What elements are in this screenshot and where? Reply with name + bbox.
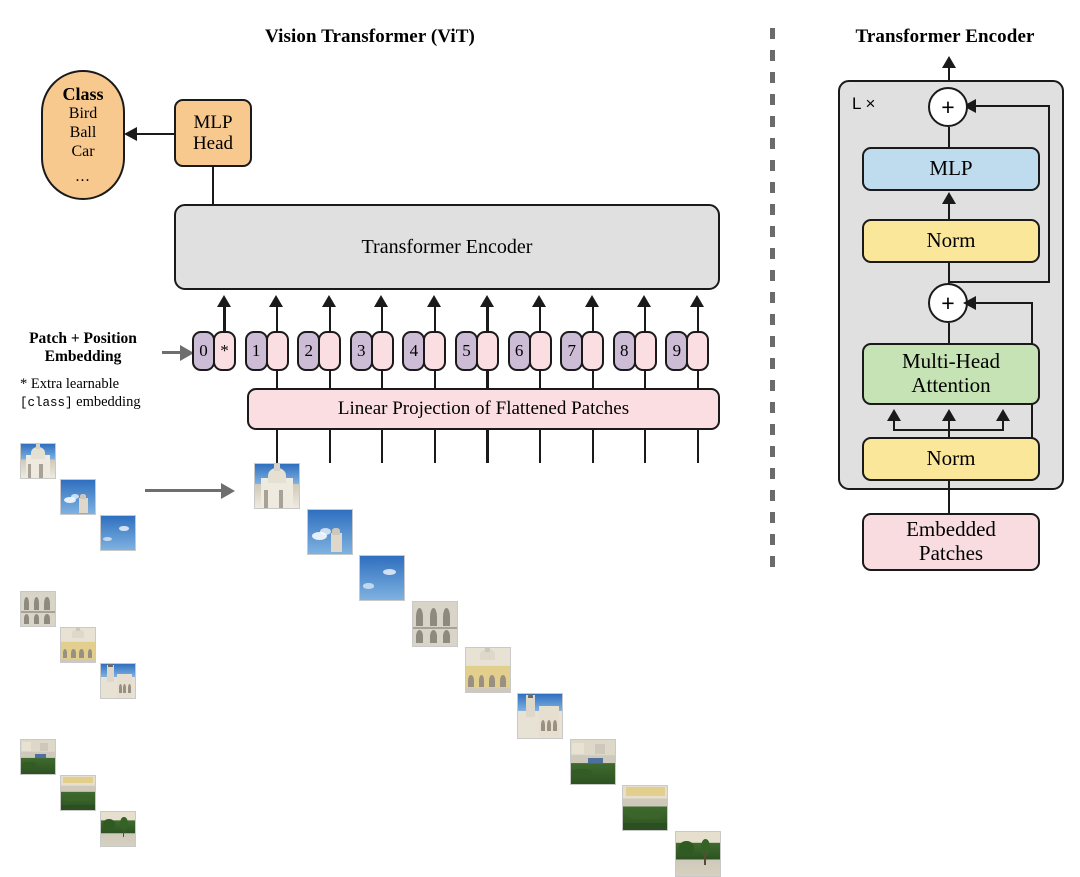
mlp-head-box: MLP Head [174, 99, 252, 167]
patch-3-to-projection-line [381, 430, 383, 463]
patch-9-to-projection-line [697, 430, 699, 463]
token-1-to-encoder-line [276, 307, 278, 333]
token-8-to-encoder-line [644, 307, 646, 333]
token-8: 8 [613, 331, 659, 371]
patch-grid-arrow-head [221, 483, 235, 499]
token-5-to-encoder-arrowhead [480, 295, 494, 307]
image-patch-r0-c2 [359, 555, 405, 601]
mlp-residual-bottom-line [948, 281, 1050, 283]
image-patch-r1-c0 [20, 591, 56, 627]
residual-add-bottom: + [928, 283, 968, 323]
token-2-from-projection-line [329, 371, 331, 388]
token-6-to-encoder-arrowhead [532, 295, 546, 307]
multi-head-attention-block: Multi-Head Attention [862, 343, 1040, 405]
position-embedding-7: 7 [560, 331, 583, 371]
token-0-to-encoder-line [223, 307, 225, 333]
image-patch-r0-c0 [20, 443, 56, 479]
attention-fanout-left-arrowhead [887, 409, 901, 421]
image-patch-r1-c2 [100, 663, 136, 699]
mlp-head-to-class-line [136, 133, 174, 135]
token-1-to-encoder-arrowhead [269, 295, 283, 307]
image-patch-r2-c2 [100, 811, 136, 847]
encoder-output-arrowhead [942, 56, 956, 68]
left-panel-title: Vision Transformer (ViT) [175, 26, 565, 48]
class-output-box: Class Bird Ball Car ... [41, 70, 125, 200]
footnote-line2: [class] embedding [20, 393, 195, 412]
position-embedding-4: 4 [402, 331, 425, 371]
patch-embedding-0: * [213, 331, 236, 371]
embedded-patches-block: Embedded Patches [862, 513, 1040, 571]
class-header: Class [62, 84, 103, 104]
attention-fanout-center-arrowhead [942, 409, 956, 421]
patch-embedding-1 [266, 331, 289, 371]
token-4-from-projection-line [434, 371, 436, 388]
position-embedding-8: 8 [613, 331, 636, 371]
patch-8-to-projection-line [644, 430, 646, 463]
attention-label-line1: Multi-Head [902, 350, 1000, 374]
embedding-label-line1: Patch + Position [8, 330, 158, 348]
attention-to-add-line [948, 323, 950, 343]
norm-bottom-label: Norm [927, 447, 976, 471]
patch-5-to-projection-line [486, 430, 488, 463]
image-patch-r0-c0 [254, 463, 300, 509]
token-6-from-projection-line [539, 371, 541, 388]
token-9-from-projection-line [697, 371, 699, 388]
token-3-to-encoder-line [381, 307, 383, 333]
class-option-car: Car [71, 143, 94, 162]
right-panel-title: Transformer Encoder [820, 26, 1070, 48]
position-embedding-6: 6 [508, 331, 531, 371]
token-0: 0* [192, 331, 238, 371]
class-token-code: [class] [20, 396, 73, 410]
attention-fanout-right-arrowhead [996, 409, 1010, 421]
image-patch-r2-c2 [675, 831, 721, 877]
image-patch-r2-c1 [622, 785, 668, 831]
add-symbol-bottom: + [941, 292, 954, 315]
patch-grid-arrow-line [145, 489, 223, 492]
norm-top-to-mlp-arrowhead [942, 192, 956, 204]
mlp-head-line2: Head [193, 133, 233, 154]
image-patch-r1-c1 [465, 647, 511, 693]
norm-top-label: Norm [927, 229, 976, 253]
position-embedding-2: 2 [297, 331, 320, 371]
token-2: 2 [297, 331, 343, 371]
image-patch-r1-c2 [517, 693, 563, 739]
token-4-to-encoder-arrowhead [427, 295, 441, 307]
attention-fanout-center-stem [948, 421, 950, 437]
patch-7-to-projection-line [592, 430, 594, 463]
token-5-to-encoder-line [486, 307, 488, 333]
patch-2-to-projection-line [329, 430, 331, 463]
patch-position-embedding-label: Patch + Position Embedding [8, 330, 158, 366]
transformer-encoder-box: Transformer Encoder [174, 204, 720, 290]
embedding-label-line2: Embedding [8, 348, 158, 366]
mlp-residual-vertical-line [1048, 105, 1050, 283]
panel-divider [770, 28, 775, 573]
token-9: 9 [665, 331, 711, 371]
token-1: 1 [245, 331, 291, 371]
token-0-to-encoder-arrowhead [217, 295, 231, 307]
token-4-to-encoder-line [434, 307, 436, 333]
token-8-from-projection-line [644, 371, 646, 388]
add-symbol-top: + [941, 96, 954, 119]
embedded-patches-line1: Embedded [906, 518, 996, 542]
position-embedding-9: 9 [665, 331, 688, 371]
token-7-to-encoder-arrowhead [585, 295, 599, 307]
embedded-patches-to-norm-line [948, 481, 950, 513]
embedded-patches-line2: Patches [919, 542, 983, 566]
residual-add-top: + [928, 87, 968, 127]
image-patch-r2-c0 [20, 739, 56, 775]
mlp-head-to-encoder-line [212, 167, 214, 204]
attention-label-line2: Attention [911, 374, 990, 398]
position-embedding-0: 0 [192, 331, 215, 371]
position-embedding-5: 5 [455, 331, 478, 371]
token-2-to-encoder-line [329, 307, 331, 333]
image-patch-r1-c1 [60, 627, 96, 663]
token-7-to-encoder-line [592, 307, 594, 333]
patch-embedding-9 [686, 331, 709, 371]
token-6-to-encoder-line [539, 307, 541, 333]
position-embedding-3: 3 [350, 331, 373, 371]
token-1-from-projection-line [276, 371, 278, 388]
attn-residual-arrowhead [963, 296, 976, 310]
linear-projection-box: Linear Projection of Flattened Patches [247, 388, 720, 430]
norm-top-to-mlp-line [948, 203, 950, 219]
patch-embedding-6 [529, 331, 552, 371]
mlp-head-line1: MLP [193, 112, 232, 133]
patch-4-to-projection-line [434, 430, 436, 463]
token-8-to-encoder-arrowhead [637, 295, 651, 307]
image-patch-r2-c0 [570, 739, 616, 785]
class-option-bird: Bird [69, 105, 97, 124]
mlp-block: MLP [862, 147, 1040, 191]
token-6: 6 [508, 331, 554, 371]
footnote-line2-tail: embedding [73, 394, 141, 410]
token-5-from-projection-line [486, 371, 488, 388]
token-9-to-encoder-arrowhead [690, 295, 704, 307]
patch-embedding-3 [371, 331, 394, 371]
image-patch-r2-c1 [60, 775, 96, 811]
class-ellipsis: ... [76, 168, 91, 186]
patch-embedding-2 [318, 331, 341, 371]
token-4: 4 [402, 331, 448, 371]
patch-embedding-4 [423, 331, 446, 371]
patch-1-to-projection-line [276, 430, 278, 463]
image-patch-r0-c2 [100, 515, 136, 551]
linear-projection-label: Linear Projection of Flattened Patches [338, 398, 629, 419]
token-3: 3 [350, 331, 396, 371]
source-image-patch-grid [20, 443, 140, 563]
image-patch-r1-c0 [412, 601, 458, 647]
norm-block-bottom: Norm [862, 437, 1040, 481]
token-2-to-encoder-arrowhead [322, 295, 336, 307]
patch-6-to-projection-line [539, 430, 541, 463]
mlp-residual-top-line [965, 105, 1050, 107]
attention-fanout-right-stem [1002, 421, 1004, 431]
token-5: 5 [455, 331, 501, 371]
image-patch-r0-c1 [307, 509, 353, 555]
encoder-repeat-label: L × [852, 94, 875, 114]
mlp-head-to-class-arrowhead [124, 127, 137, 141]
token-3-from-projection-line [381, 371, 383, 388]
norm-block-top: Norm [862, 219, 1040, 263]
token-9-to-encoder-line [697, 307, 699, 333]
position-embedding-1: 1 [245, 331, 268, 371]
image-patch-r0-c1 [60, 479, 96, 515]
transformer-encoder-label: Transformer Encoder [362, 236, 533, 258]
extra-learnable-footnote: * Extra learnable [class] embedding [20, 375, 195, 412]
patch-embedding-8 [634, 331, 657, 371]
attention-fanout-left-stem [893, 421, 895, 431]
token-3-to-encoder-arrowhead [374, 295, 388, 307]
footnote-line1: * Extra learnable [20, 375, 195, 393]
patch-embedding-7 [581, 331, 604, 371]
patch-embedding-5 [476, 331, 499, 371]
token-7: 7 [560, 331, 606, 371]
token-7-from-projection-line [592, 371, 594, 388]
embedding-label-arrow-line [162, 351, 182, 354]
class-option-ball: Ball [70, 124, 97, 143]
mlp-to-add-line [948, 127, 950, 147]
mlp-block-label: MLP [929, 157, 972, 181]
